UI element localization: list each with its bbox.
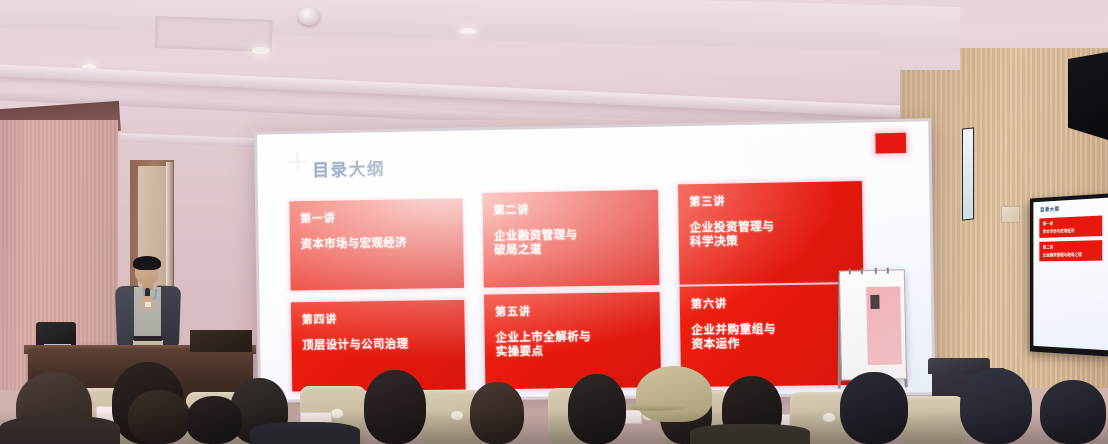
audience-head	[128, 390, 190, 444]
wall-plate	[1001, 206, 1020, 223]
outline-card: 第二讲 企业融资管理与破局之道	[482, 190, 659, 288]
ceiling-vent	[154, 16, 272, 52]
card-text: 企业融资管理与破局之道	[1043, 252, 1099, 258]
card-number: 第四讲	[302, 309, 454, 327]
seat	[900, 396, 964, 444]
card-number: 第二讲	[1043, 243, 1099, 250]
ceiling-light	[252, 47, 270, 54]
audience-head	[960, 368, 1032, 444]
audience	[0, 352, 1108, 444]
side-monitor-card: 第二讲 企业融资管理与破局之道	[1039, 240, 1102, 261]
audience-shoulder	[250, 422, 360, 444]
audience-head	[840, 372, 908, 444]
conference-hall-photo: 目录大纲 第一讲 资本市场与宏观经济 第二讲 企业融资管理与破局之道 第三讲 企…	[0, 0, 1108, 444]
podium-side-cabinet	[190, 330, 252, 352]
side-monitor-title: 目录大纲	[1040, 206, 1059, 214]
easel-clip	[849, 268, 851, 274]
card-number: 第一讲	[1043, 219, 1099, 227]
seat-number-tag	[822, 412, 836, 423]
seat-number-tag	[330, 408, 344, 419]
easel-clip	[875, 268, 877, 274]
audience-head	[470, 382, 524, 444]
side-monitor-screen: 目录大纲 第一讲 资本市场与宏观经济 第二讲 企业融资管理与破局之道	[1033, 198, 1108, 351]
audience-shoulder	[690, 424, 810, 444]
easel-clip	[861, 268, 863, 274]
presenter-belt	[134, 336, 162, 341]
smoke-detector-icon	[298, 7, 320, 25]
card-number: 第一讲	[300, 207, 452, 226]
side-monitor-cards: 第一讲 资本市场与宏观经济 第二讲 企业融资管理与破局之道	[1033, 215, 1108, 265]
audience-head	[1040, 380, 1106, 444]
window	[962, 127, 974, 220]
audience-head	[568, 374, 626, 444]
slide-title: 目录大纲	[312, 155, 385, 181]
card-number: 第二讲	[493, 199, 647, 218]
audience-head	[186, 396, 242, 444]
cross-decoration-icon	[288, 152, 308, 172]
card-text: 资本市场与宏观经济	[1043, 228, 1099, 235]
card-text: 企业投资管理与科学决策	[690, 219, 852, 251]
seat-number-tag	[450, 410, 464, 421]
corner-display-monitor	[1068, 52, 1108, 140]
audience-shoulder	[0, 416, 120, 444]
ceiling-light	[460, 28, 476, 34]
card-number: 第六讲	[691, 293, 853, 311]
presenter-hair	[133, 256, 161, 270]
corner-accent-mark	[875, 133, 906, 154]
presenter-badge	[145, 302, 151, 307]
card-number: 第五讲	[495, 301, 649, 319]
outline-card: 第一讲 资本市场与宏观经济	[289, 198, 464, 290]
card-text: 资本市场与宏观经济	[301, 235, 453, 252]
audience-head	[364, 370, 426, 444]
card-number: 第三讲	[689, 190, 851, 209]
cap-brim	[628, 404, 684, 411]
whiteboard-marker	[870, 295, 879, 309]
side-monitor-card: 第一讲 资本市场与宏观经济	[1039, 215, 1102, 237]
card-text: 企业融资管理与破局之道	[494, 227, 648, 258]
easel-clip	[887, 268, 889, 274]
audience-cap	[636, 366, 712, 422]
card-text: 顶层设计与公司治理	[302, 337, 454, 353]
card-text: 企业并购重组与资本运作	[691, 321, 853, 352]
side-display-monitor: 目录大纲 第一讲 资本市场与宏观经济 第二讲 企业融资管理与破局之道	[1030, 193, 1108, 356]
ceiling-slab	[0, 0, 960, 53]
